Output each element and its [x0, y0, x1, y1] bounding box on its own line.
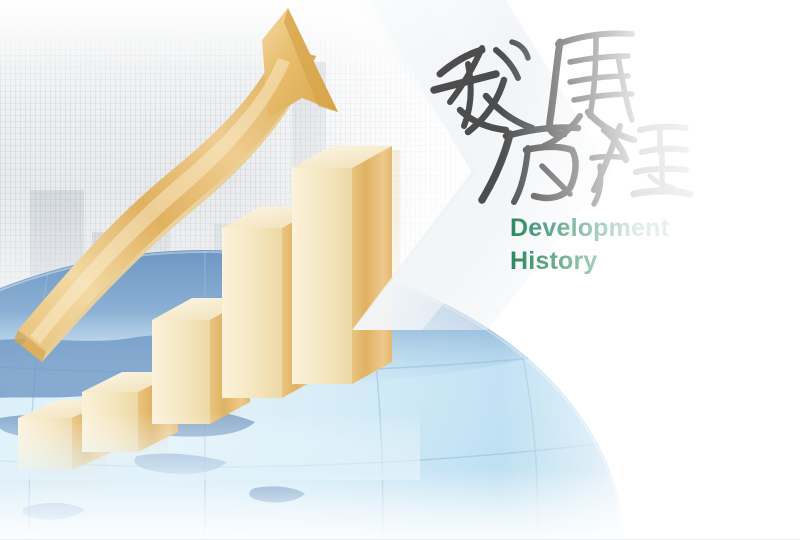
english-title: Development History: [510, 212, 669, 278]
development-history-banner: Development History: [0, 0, 800, 540]
title-block: [424, 22, 724, 212]
cjk-char-li: [482, 127, 578, 202]
cjk-title-calligraphy: [424, 22, 700, 212]
cjk-char-cheng: [592, 126, 690, 204]
cjk-char-fa: [434, 42, 532, 132]
